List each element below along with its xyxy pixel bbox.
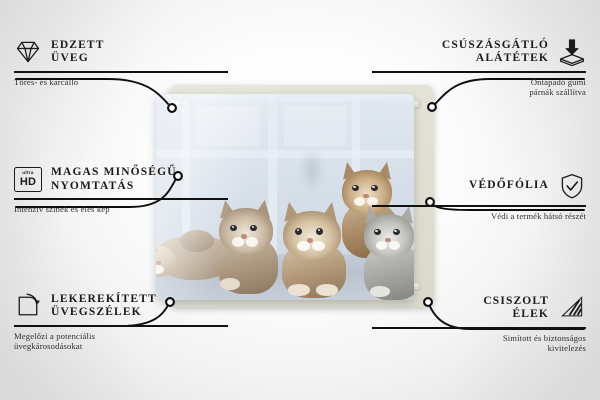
feature-rule (372, 327, 586, 329)
feature-title: CSISZOLT ÉLEK (483, 295, 549, 322)
feature-rounded-glass-edges: LEKEREKÍTETT ÜVEGSZÉLEK Megelőzi a poten… (14, 292, 228, 352)
feature-protective-film: VÉDŐFÓLIA Védi a termék hátsó részét (372, 172, 586, 221)
feature-rule (14, 71, 228, 73)
feature-title: MAGAS MINŐSÉGŰ NYOMTATÁS (51, 166, 177, 193)
feature-tempered-glass: EDZETT ÜVEG Törés- és karcálló (14, 38, 228, 87)
feature-subtitle: Intenzív színek és éles kép (14, 204, 228, 215)
feature-title: VÉDŐFÓLIA (469, 179, 549, 193)
feature-subtitle: Védi a termék hátsó részét (372, 211, 586, 222)
polished-edge-icon (558, 294, 586, 322)
infographic-canvas: EDZETT ÜVEG Törés- és karcálló ultra HD … (0, 0, 600, 400)
feature-rule (14, 325, 228, 327)
feature-rule (14, 198, 228, 200)
feature-title: LEKEREKÍTETT ÜVEGSZÉLEK (51, 293, 157, 320)
ultra-hd-icon: ultra HD (14, 167, 42, 192)
feature-rule (372, 71, 586, 73)
background-plant-silhouette (290, 142, 334, 204)
feature-anti-slip-pads: CSÚSZÁSGÁTLÓ ALÁTÉTEK Öntapadó gumi párn… (372, 38, 586, 98)
feature-high-quality-print: ultra HD MAGAS MINŐSÉGŰ NYOMTATÁS Intenz… (14, 166, 228, 214)
feature-subtitle: Megelőzi a potenciális üvegkárosodásokat (14, 331, 228, 352)
feature-title: CSÚSZÁSGÁTLÓ ALÁTÉTEK (442, 39, 549, 66)
rounded-corner-icon (14, 292, 42, 320)
shield-check-icon (558, 172, 586, 200)
feature-title: EDZETT ÜVEG (51, 39, 105, 66)
feature-rule (372, 205, 586, 207)
ultra-hd-icon-main-label: HD (20, 177, 36, 188)
feature-polished-edges: CSISZOLT ÉLEK Simított és biztonságos ki… (372, 294, 586, 354)
anti-slip-pad-icon (558, 38, 586, 66)
feature-subtitle: Simított és biztonságos kivitelezés (372, 333, 586, 354)
diamond-icon (14, 38, 42, 66)
feature-subtitle: Öntapadó gumi párnák szállítva (372, 77, 586, 98)
feature-subtitle: Törés- és karcálló (14, 77, 228, 88)
